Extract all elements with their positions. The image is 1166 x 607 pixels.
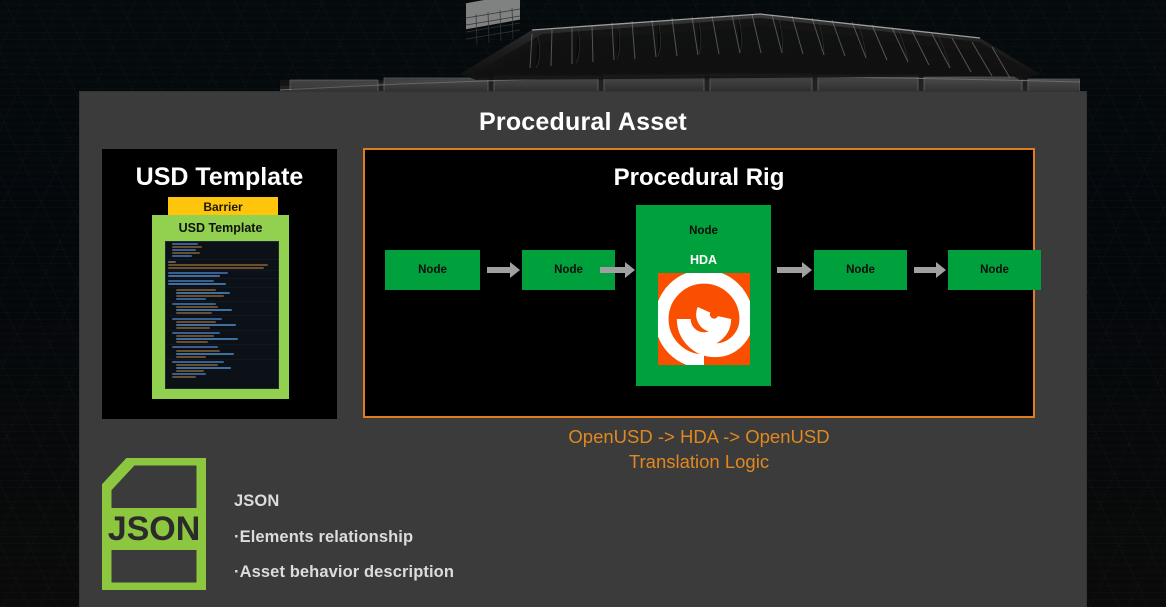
code-line — [172, 252, 200, 254]
code-line — [166, 344, 278, 345]
code-line — [166, 315, 278, 316]
code-line — [166, 359, 278, 360]
code-line — [176, 335, 214, 337]
arrow-1 — [487, 267, 511, 273]
code-line — [176, 364, 218, 366]
json-icon-label: JSON — [108, 510, 201, 548]
procedural-rig-title: Procedural Rig — [365, 164, 1033, 192]
code-line — [172, 332, 220, 334]
code-line — [166, 287, 278, 288]
node-box-3[interactable]: Node — [814, 250, 907, 290]
code-line — [176, 312, 212, 314]
code-line — [166, 301, 278, 302]
code-line — [166, 259, 278, 260]
json-bullet-1: ·Elements relationship — [234, 528, 454, 547]
code-line — [172, 255, 192, 257]
code-line — [172, 249, 196, 251]
code-line — [168, 272, 228, 274]
json-heading: JSON — [234, 492, 454, 511]
code-screenshot — [165, 241, 279, 389]
arrow-3 — [777, 267, 803, 273]
code-line — [176, 306, 218, 308]
hda-label: HDA — [636, 253, 771, 267]
node-label: Node — [554, 264, 583, 276]
code-line — [176, 338, 238, 340]
code-line — [172, 246, 202, 248]
code-line — [176, 324, 236, 326]
page-title: Procedural Asset — [80, 108, 1086, 137]
arrow-4 — [914, 267, 937, 273]
code-line — [168, 283, 226, 285]
code-line — [176, 289, 216, 291]
hda-node-box[interactable]: Node HDA — [636, 205, 771, 386]
code-line — [168, 275, 220, 277]
code-line — [176, 309, 232, 311]
code-line — [172, 303, 216, 305]
code-line — [176, 292, 230, 294]
json-section: JSON JSON ·Elements relationship ·Asset … — [102, 458, 622, 588]
procedural-rig-box: Procedural Rig Node Node Node HDA — [363, 148, 1035, 418]
code-line — [176, 367, 231, 369]
barrier-label: Barrier — [203, 200, 242, 214]
hda-node-label: Node — [636, 225, 771, 237]
code-line — [168, 261, 176, 263]
json-text-list: JSON ·Elements relationship ·Asset behav… — [234, 492, 454, 598]
code-line — [168, 280, 214, 282]
node-box-1[interactable]: Node — [385, 250, 480, 290]
code-line — [172, 318, 222, 320]
usd-template-card: USD Template Barrier USD Template — [102, 149, 337, 419]
slide-canvas: Procedural Asset USD Template Barrier US… — [0, 0, 1166, 607]
code-line — [176, 341, 208, 343]
rig-caption-line-1: OpenUSD -> HDA -> OpenUSD — [363, 424, 1035, 449]
usd-template-card-title: USD Template — [102, 163, 337, 192]
node-label: Node — [418, 264, 447, 276]
code-line — [176, 295, 224, 297]
code-line — [176, 353, 234, 355]
code-line — [166, 330, 278, 331]
node-graph: Node Node Node HDA — [365, 208, 1033, 398]
usd-template-green-label: USD Template — [152, 221, 289, 235]
code-line — [176, 350, 220, 352]
code-line — [168, 264, 268, 266]
usd-template-green-box: USD Template — [152, 215, 289, 399]
code-line — [176, 370, 204, 372]
node-label: Node — [980, 264, 1009, 276]
code-line — [172, 243, 198, 245]
code-line — [168, 267, 264, 269]
code-line — [176, 356, 206, 358]
content-panel: Procedural Asset USD Template Barrier US… — [80, 92, 1086, 607]
code-line — [176, 298, 206, 300]
3d-barrier-model — [280, 0, 1080, 100]
json-bullet-2: ·Asset behavior description — [234, 563, 454, 582]
arrow-2 — [600, 267, 626, 273]
code-line — [166, 270, 278, 271]
node-label: Node — [846, 264, 875, 276]
code-line — [172, 361, 224, 363]
barrier-bar: Barrier — [168, 197, 278, 216]
node-box-4[interactable]: Node — [948, 250, 1041, 290]
code-line — [172, 373, 206, 375]
code-line — [176, 327, 210, 329]
houdini-spiral-logo — [658, 273, 750, 365]
code-line — [172, 346, 218, 348]
code-line — [166, 278, 278, 279]
json-file-icon: JSON — [102, 458, 206, 590]
code-line — [172, 376, 196, 378]
code-line — [176, 321, 216, 323]
